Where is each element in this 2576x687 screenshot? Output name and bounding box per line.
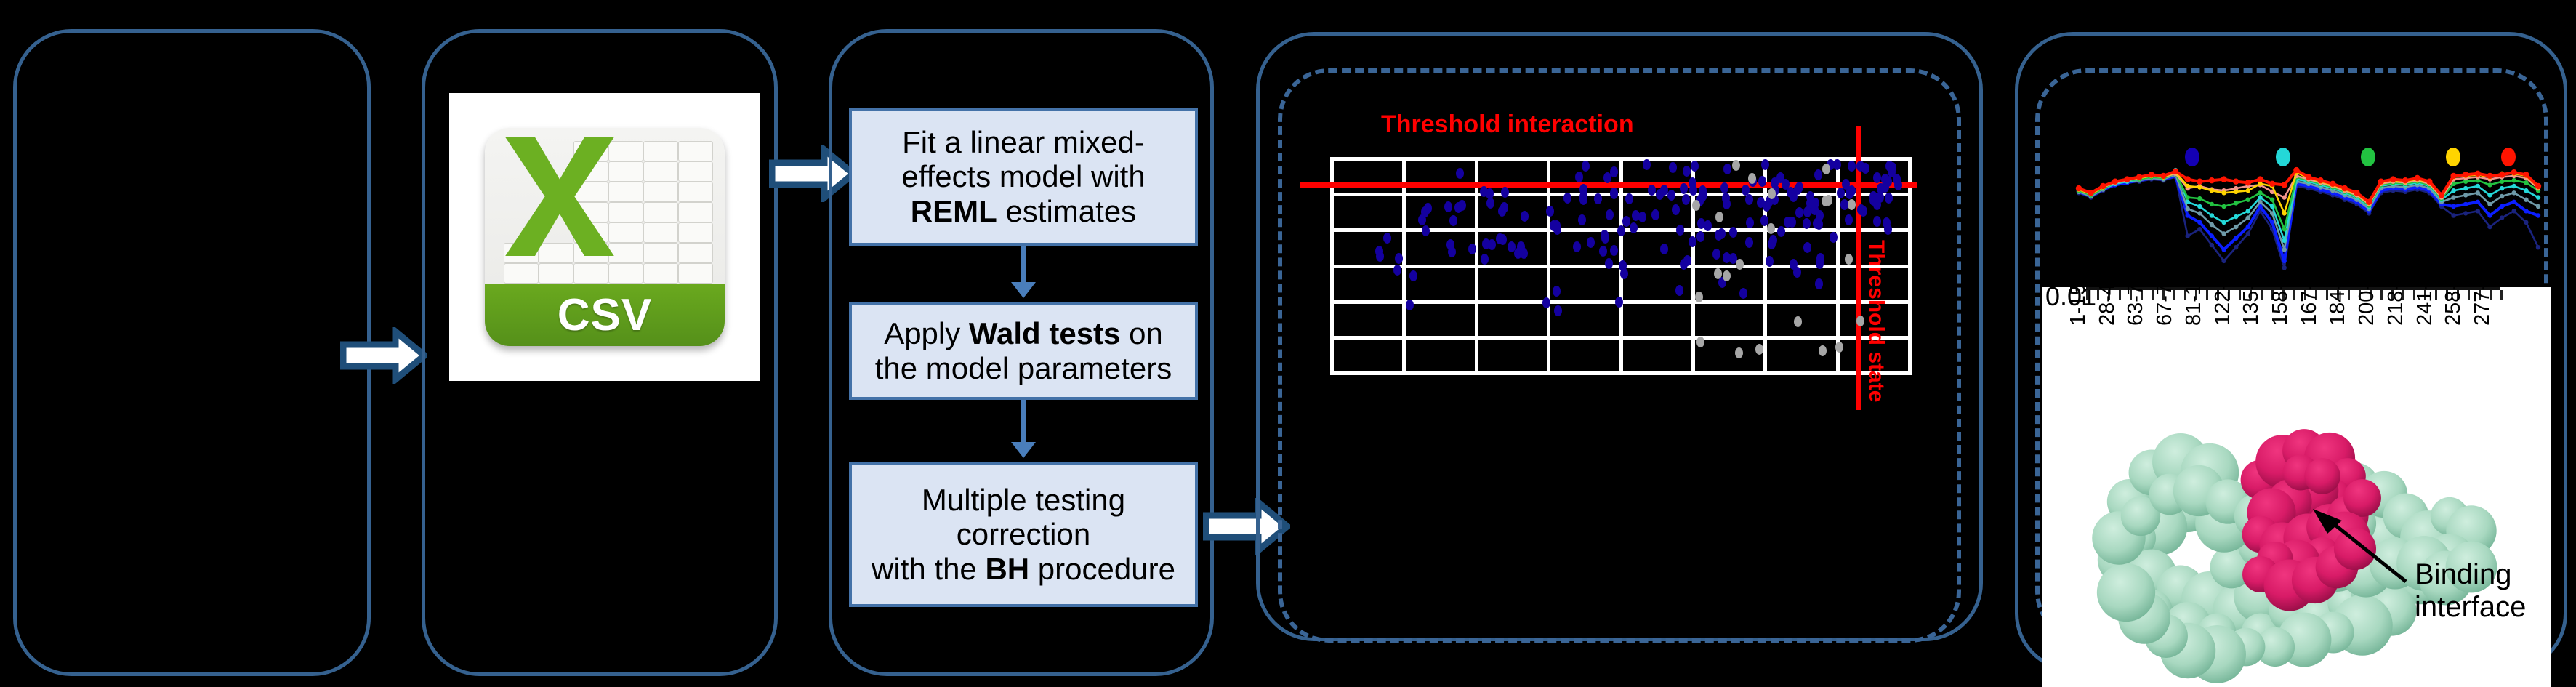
series-marker <box>2306 174 2311 180</box>
spreadsheet-cell <box>678 222 713 243</box>
scatter-point <box>1848 161 1856 172</box>
scatter-point <box>1672 204 1680 215</box>
scatter-point <box>1651 209 1659 220</box>
peptide-line-chart <box>2050 156 2551 287</box>
scatter-point <box>1845 214 1853 225</box>
series-marker <box>2500 180 2504 184</box>
series-marker <box>2282 227 2287 231</box>
series-marker <box>2463 186 2468 190</box>
series-marker <box>2186 213 2190 217</box>
series-marker <box>2512 200 2516 204</box>
series-marker <box>2475 171 2481 177</box>
axis-tick <box>2380 290 2383 300</box>
scatter-point <box>1757 197 1765 208</box>
scatter-point <box>1615 297 1623 308</box>
series-marker <box>2234 201 2238 205</box>
scatter-point <box>1795 207 1803 218</box>
scatter-point <box>1859 206 1867 217</box>
scatter-point <box>1782 179 1790 190</box>
series-marker <box>2209 177 2215 183</box>
spreadsheet-cell <box>678 161 713 182</box>
spreadsheet-cell <box>643 141 678 161</box>
series-marker <box>2282 259 2287 263</box>
series-marker <box>2221 220 2226 225</box>
scatter-point <box>1587 237 1595 248</box>
series-marker <box>2512 209 2516 213</box>
series-marker <box>2536 204 2540 209</box>
scatter-point <box>1830 232 1838 243</box>
axis-tick <box>2500 290 2503 300</box>
scatter-point <box>1630 222 1638 233</box>
scatter-point <box>1873 216 1881 227</box>
scatter-point <box>1578 214 1586 225</box>
binding-label-line2: interface <box>2415 591 2526 624</box>
scatter-point <box>1582 161 1590 172</box>
series-marker <box>2112 179 2118 185</box>
legend-marker-state-3 <box>2361 148 2375 166</box>
scatter-point <box>1643 159 1651 170</box>
binding-interface-label: Binding interface <box>2415 558 2526 624</box>
series-marker <box>2282 247 2287 252</box>
scatter-point <box>1819 345 1827 356</box>
scatter-point <box>1553 220 1561 231</box>
series-marker <box>2210 243 2214 247</box>
series-marker <box>2415 175 2420 181</box>
scatter-point <box>1848 199 1856 210</box>
series-marker <box>2354 190 2359 196</box>
scatter-point <box>1683 255 1691 266</box>
series-marker <box>2186 200 2190 204</box>
scatter-point <box>1456 168 1464 179</box>
series-marker <box>2512 178 2516 182</box>
scatter-point <box>1669 162 1677 173</box>
peptide-tick-label: 277-284 <box>2471 287 2495 326</box>
scatter-point <box>1742 185 1750 196</box>
series-marker <box>2257 176 2263 182</box>
axis-tick <box>2468 290 2470 300</box>
protein-surface-blob <box>2334 528 2376 570</box>
series-marker <box>2234 236 2238 241</box>
series-marker <box>2197 227 2202 231</box>
scatter-point <box>1444 201 1452 212</box>
scatter-point <box>1676 225 1684 236</box>
series-marker <box>2221 259 2226 263</box>
scatter-point <box>1501 187 1509 198</box>
series-marker <box>2197 196 2202 201</box>
series-marker <box>2330 181 2335 187</box>
scatter-point <box>1383 233 1391 244</box>
peptide-tick-label: 63-73 <box>2124 287 2148 326</box>
scatter-point <box>1458 200 1466 211</box>
scatter-point <box>1739 288 1747 299</box>
scatter-point <box>1554 305 1562 316</box>
series-marker <box>2282 238 2287 243</box>
spreadsheet-cell <box>678 182 713 202</box>
scatter-point <box>1675 285 1683 296</box>
scatter-point <box>1689 177 1696 188</box>
mt-line2: correction <box>957 517 1090 551</box>
scatter-point <box>1745 237 1753 248</box>
scatter-point <box>1888 162 1896 173</box>
scatter-point <box>1794 316 1802 327</box>
scatter-point <box>1563 193 1571 204</box>
series-marker <box>2124 176 2130 182</box>
series-marker <box>2221 204 2226 209</box>
scatter-point <box>1755 344 1763 355</box>
spreadsheet-cell <box>608 263 643 284</box>
scatter-point <box>1449 215 1457 226</box>
series-marker <box>2463 172 2468 177</box>
series-marker <box>2487 225 2492 229</box>
series-marker <box>2476 200 2480 204</box>
wald-line2: the model parameters <box>875 351 1172 385</box>
scatter-point <box>1446 239 1454 250</box>
peptide-tick-label: 167-180 <box>2298 287 2322 326</box>
scatter-point <box>1746 217 1754 228</box>
scatter-point <box>1803 206 1811 217</box>
scatter-point <box>1803 242 1811 253</box>
series-marker <box>2366 199 2372 205</box>
series-marker <box>2234 214 2238 219</box>
gridline-horizontal <box>1330 336 1912 340</box>
series-marker <box>2197 204 2202 209</box>
scatter-point <box>1514 248 1522 259</box>
scatter-point <box>1814 169 1822 180</box>
scatter-point <box>1767 223 1775 234</box>
series-marker <box>2245 180 2251 185</box>
spreadsheet-cell <box>678 263 713 284</box>
scatter-point <box>1486 198 1494 209</box>
scatter-point <box>1575 172 1583 182</box>
scatter-point <box>1822 164 1830 174</box>
spreadsheet-cell <box>678 202 713 222</box>
series-marker <box>2186 206 2190 211</box>
scatter-point <box>1422 225 1430 236</box>
series-marker <box>2210 222 2214 227</box>
scatter-point <box>1861 163 1869 174</box>
scatter-point <box>1758 176 1766 187</box>
scatter-point <box>1877 183 1885 194</box>
scatter-point <box>1667 190 1675 201</box>
series-marker <box>2234 225 2238 229</box>
series-marker <box>2487 193 2492 197</box>
spreadsheet-cell <box>573 263 608 284</box>
series-marker <box>2511 169 2517 175</box>
series-marker <box>2246 225 2250 229</box>
series-marker <box>2476 209 2480 213</box>
workflow-diagram: CSV Fit a linear mixed- effects model wi… <box>0 0 2576 687</box>
series-marker <box>2149 172 2154 177</box>
scatter-point <box>1715 230 1723 241</box>
scatter-point <box>1680 183 1688 194</box>
series-marker <box>2221 247 2226 252</box>
scatter-point <box>1848 185 1856 196</box>
series-marker <box>2487 182 2492 187</box>
scatter-point <box>1835 342 1843 353</box>
series-marker <box>2282 211 2287 215</box>
scatter-point <box>1601 230 1609 241</box>
scatter-point <box>1594 193 1602 204</box>
series-marker <box>2160 173 2166 179</box>
scatter-point <box>1599 246 1607 257</box>
scatter-point <box>1777 226 1785 237</box>
spreadsheet-cell <box>678 141 713 161</box>
scatter-point <box>1735 347 1743 358</box>
scatter-point <box>1660 244 1668 254</box>
wald-line1-pre: Apply <box>884 316 969 350</box>
scatter-point <box>1768 238 1776 249</box>
series-marker <box>2451 195 2455 199</box>
threshold-interaction-title: Threshold interaction <box>1381 111 1634 139</box>
scatter-point <box>1395 253 1403 264</box>
scatter-point <box>1712 249 1720 260</box>
series-marker <box>2269 181 2275 187</box>
scatter-point <box>1793 267 1801 278</box>
peptide-tick-label: 28-44 <box>2096 287 2120 326</box>
connector-2 <box>1021 400 1026 442</box>
scatter-point <box>1468 244 1476 254</box>
series-marker <box>2197 185 2202 189</box>
series-marker <box>2221 176 2226 182</box>
series-marker <box>2463 211 2468 215</box>
scatter-point <box>1695 292 1703 302</box>
scatter-point <box>1692 200 1700 211</box>
peptide-tick-label: 1-15 <box>2066 287 2090 326</box>
scatter-point <box>1816 210 1824 221</box>
series-marker <box>2499 172 2505 177</box>
excel-x-icon <box>498 132 621 256</box>
spreadsheet-cell <box>539 263 573 284</box>
scatter-point <box>1498 206 1506 217</box>
fit-model-line1: Fit a linear mixed- <box>902 125 1145 159</box>
fit-model-line3-rest: estimates <box>997 194 1136 228</box>
mt-line3-pre: with the <box>872 552 985 586</box>
series-marker <box>2451 188 2455 193</box>
series-marker <box>2451 204 2455 209</box>
scatter-point <box>1766 256 1774 267</box>
scatter-point <box>1761 159 1769 170</box>
scatter-point <box>1375 246 1383 257</box>
scatter-point <box>1837 188 1845 198</box>
peptide-tick-label: 258-266 <box>2442 287 2466 326</box>
connector-1-arrowhead-icon <box>1011 282 1036 298</box>
scatter-point <box>1409 270 1417 281</box>
series-marker <box>2258 195 2262 199</box>
scatter-point <box>1521 211 1529 222</box>
series-marker <box>2282 265 2287 270</box>
series-marker <box>2378 179 2384 185</box>
scatter-point <box>1481 254 1489 265</box>
peptide-tick-label: 122-129 <box>2211 287 2235 326</box>
fit-model-line2: effects model with <box>901 159 1145 193</box>
csv-file-image: CSV <box>449 93 760 381</box>
peptide-tick-label: 81-101 <box>2182 287 2206 326</box>
series-marker <box>2342 185 2348 191</box>
series-marker <box>2523 172 2529 177</box>
peptide-tick-label: 241-257 <box>2413 287 2437 326</box>
series-marker <box>2500 186 2504 190</box>
legend-marker-state-5 <box>2501 148 2516 166</box>
scatter-point <box>1845 254 1853 265</box>
protein-surface-render <box>2042 393 2551 687</box>
scatter-point <box>1732 160 1740 171</box>
protein-surface-blob <box>2304 458 2340 494</box>
series-marker <box>2186 233 2190 238</box>
scatter-point <box>1579 184 1587 195</box>
peptide-tick-label: 184-199 <box>2326 287 2350 326</box>
scatter-point <box>1723 164 1731 174</box>
scatter-point <box>1722 193 1730 204</box>
legend-marker-state-1 <box>2185 148 2199 166</box>
scatter-point <box>1696 231 1704 242</box>
series-marker <box>2476 190 2480 195</box>
scatter-point <box>1482 238 1490 249</box>
series-marker <box>2524 209 2528 213</box>
scatter-point <box>1720 182 1728 193</box>
series-marker <box>2186 195 2190 199</box>
scatter-point <box>1729 227 1737 238</box>
scatter-point <box>1605 258 1613 269</box>
scatter-point <box>1553 286 1561 297</box>
spreadsheet-cell <box>643 222 678 243</box>
scatter-point <box>1617 225 1625 236</box>
peptide-tick-label: 135-144 <box>2239 287 2263 326</box>
wald-line1-post: on <box>1120 316 1162 350</box>
series-marker <box>2536 245 2540 249</box>
scatter-point <box>1546 206 1554 217</box>
series-marker <box>2293 167 2299 173</box>
scatter-point <box>1745 194 1753 205</box>
scatter-point <box>1697 218 1705 229</box>
scatter-point <box>1648 185 1656 196</box>
series-marker <box>2246 231 2250 236</box>
series-marker <box>2451 213 2455 217</box>
series-marker <box>2390 176 2396 182</box>
scatter-point <box>1421 206 1429 217</box>
scatter-point <box>1815 278 1823 289</box>
series-marker <box>2233 179 2239 185</box>
scatter-point <box>1824 195 1832 206</box>
process-box-wald-tests: Apply Wald tests on the model parameters <box>849 302 1198 400</box>
axis-tick <box>2293 290 2295 300</box>
scatter-point <box>1768 188 1776 199</box>
scatter-point <box>1748 173 1756 184</box>
scatter-point <box>1622 216 1630 227</box>
series-marker <box>2536 213 2540 217</box>
scatter-point <box>1883 217 1891 228</box>
protein-structure-image: Binding interface <box>2042 393 2551 687</box>
series-marker <box>2487 173 2492 179</box>
process-box-fit-model: Fit a linear mixed- effects model with R… <box>849 108 1198 246</box>
scatter-point <box>1610 245 1618 256</box>
series-marker <box>2463 202 2468 206</box>
legend-marker-state-4 <box>2446 148 2460 166</box>
series-marker <box>2282 182 2287 188</box>
scatter-point <box>1771 177 1779 188</box>
series-marker <box>2476 184 2480 188</box>
scatter-point <box>1610 188 1618 199</box>
scatter-point <box>1606 209 1614 220</box>
protein-surface-blob <box>2343 479 2381 517</box>
series-marker <box>2524 220 2528 225</box>
series-marker <box>2234 245 2238 249</box>
series-marker <box>2210 188 2214 193</box>
wald-bold: Wald tests <box>969 316 1120 350</box>
series-marker <box>2246 188 2250 193</box>
spreadsheet-cell <box>643 202 678 222</box>
arrow-right-icon-1 <box>340 327 427 384</box>
threshold-state-label: Threshold state <box>1864 240 1888 402</box>
series-marker <box>2270 198 2274 202</box>
scatter-point <box>1406 300 1414 310</box>
series-marker <box>2210 213 2214 217</box>
series-marker <box>2402 177 2408 183</box>
scatter-point <box>1736 259 1744 270</box>
series-marker <box>2500 204 2504 209</box>
series-marker <box>2450 173 2456 179</box>
series-marker <box>2186 184 2190 188</box>
csv-label-band: CSV <box>485 284 725 346</box>
scatter-point <box>1480 186 1488 197</box>
series-marker <box>2246 215 2250 220</box>
scatter-point <box>1691 161 1699 172</box>
series-marker <box>2524 198 2528 202</box>
connector-2-arrowhead-icon <box>1011 442 1036 458</box>
scatter-point <box>1816 253 1824 264</box>
series-marker <box>2282 195 2287 199</box>
series-marker <box>2536 195 2540 199</box>
scatter-point <box>1542 297 1550 308</box>
series-marker <box>2221 190 2226 195</box>
series-marker <box>2185 176 2191 182</box>
csv-icon: CSV <box>485 128 725 346</box>
scatter-point <box>1625 193 1633 204</box>
connector-1 <box>1021 246 1026 282</box>
series-marker <box>2512 184 2516 188</box>
series-marker <box>2487 213 2492 217</box>
series-marker <box>2246 198 2250 202</box>
spreadsheet-cell <box>678 243 713 263</box>
series-marker <box>2197 179 2202 185</box>
scatter-point <box>1873 172 1881 183</box>
mt-bh: BH <box>985 552 1029 586</box>
binding-label-line1: Binding <box>2415 558 2526 591</box>
scatter-grid <box>1330 157 1912 375</box>
spreadsheet-cell <box>643 161 678 182</box>
series-marker <box>2524 180 2528 185</box>
fit-model-reml: REML <box>911 194 997 228</box>
scatter-point <box>1660 185 1668 196</box>
series-marker <box>2500 194 2504 198</box>
axis-tick <box>2206 290 2208 300</box>
gridline-horizontal <box>1330 371 1912 375</box>
series-marker <box>2463 193 2468 197</box>
series-marker <box>2076 185 2082 191</box>
series-marker <box>2136 174 2142 180</box>
scatter-point <box>1723 270 1731 281</box>
series-marker <box>2487 202 2492 206</box>
series-marker <box>2088 190 2093 196</box>
series-marker <box>2234 190 2238 194</box>
scatter-point <box>1714 268 1722 279</box>
process-box-multiple-testing: Multiple testing correction with the BH … <box>849 462 1198 607</box>
scatter-point <box>1682 194 1690 205</box>
peptide-tick-label: 158-166 <box>2269 287 2293 326</box>
scatter-point <box>1638 212 1646 222</box>
series-marker <box>2210 233 2214 238</box>
series-marker <box>2317 177 2323 183</box>
scatter-point <box>1393 265 1401 276</box>
